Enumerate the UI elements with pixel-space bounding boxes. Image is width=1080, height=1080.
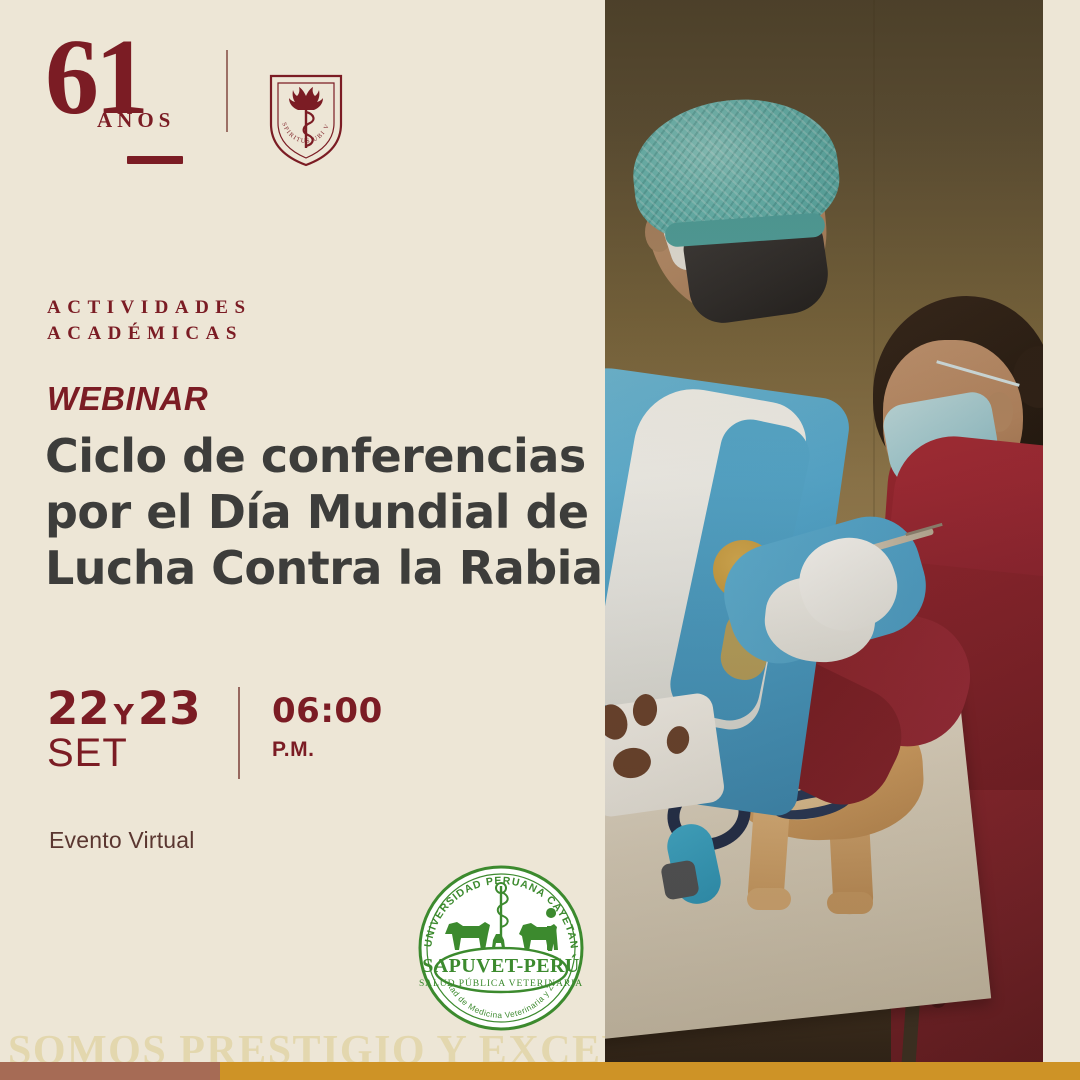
- page-title: Ciclo de conferencias por el Día Mundial…: [45, 428, 605, 596]
- title-line-3: Lucha Contra la Rabia: [45, 540, 605, 596]
- event-day-first: 22: [47, 682, 110, 735]
- logo-lockup: 61 AÑOS: [45, 30, 325, 150]
- footer-bar-gold: [220, 1062, 1080, 1080]
- photo-dog-hind-paw: [827, 892, 873, 914]
- footer-bar-brown: [0, 1062, 220, 1080]
- photo-leash-clip: [660, 859, 700, 900]
- eyebrow-line-1: ACTIVIDADES: [47, 295, 567, 321]
- eyebrow-line-2: ACADÉMICAS: [47, 321, 567, 347]
- event-time-period: P.M.: [272, 738, 383, 762]
- event-day-conjunction: Y: [110, 698, 138, 731]
- event-type-kicker: WEBINAR: [47, 380, 208, 418]
- title-line-2: por el Día Mundial de: [45, 484, 605, 540]
- title-line-1: Ciclo de conferencias: [45, 428, 605, 484]
- datetime-row: 22Y23 SET 06:00 P.M.: [47, 685, 447, 785]
- sapuvet-peru-seal-icon: UNIVERSIDAD PERUANA CAYETANO HEREDIA Fac…: [415, 862, 587, 1034]
- event-month: SET: [47, 732, 201, 774]
- svg-text:SALUD PÚBLICA VETERINARIA: SALUD PÚBLICA VETERINARIA: [419, 977, 583, 989]
- event-time-block: 06:00 P.M.: [272, 693, 383, 762]
- logo-divider: [226, 50, 228, 132]
- anniversary-numeral-base: [127, 156, 183, 164]
- anniversary-logo: 61 AÑOS: [45, 30, 205, 140]
- left-content-panel: 61 AÑOS: [0, 0, 605, 1080]
- event-dates: 22Y23 SET: [47, 685, 201, 774]
- upch-shield-icon: SPIRITUS UBI VULT SPIRAT: [267, 72, 345, 168]
- poster-canvas: 61 AÑOS: [0, 0, 1080, 1080]
- event-days: 22Y23: [47, 685, 201, 732]
- photo-dog-front-paw: [747, 888, 791, 910]
- anniversary-word: AÑOS: [97, 108, 175, 133]
- svg-text:SAPUVET-PERÚ: SAPUVET-PERÚ: [422, 953, 579, 977]
- photo-right-margin-strip: [1043, 0, 1080, 1062]
- section-eyebrow: ACTIVIDADES ACADÉMICAS: [47, 295, 567, 346]
- event-modality: Evento Virtual: [49, 827, 195, 854]
- datetime-divider: [238, 687, 240, 779]
- photo-wall-seam: [873, 0, 875, 560]
- event-day-second: 23: [138, 682, 201, 735]
- event-time: 06:00: [272, 693, 383, 730]
- event-photo: [605, 0, 1043, 1062]
